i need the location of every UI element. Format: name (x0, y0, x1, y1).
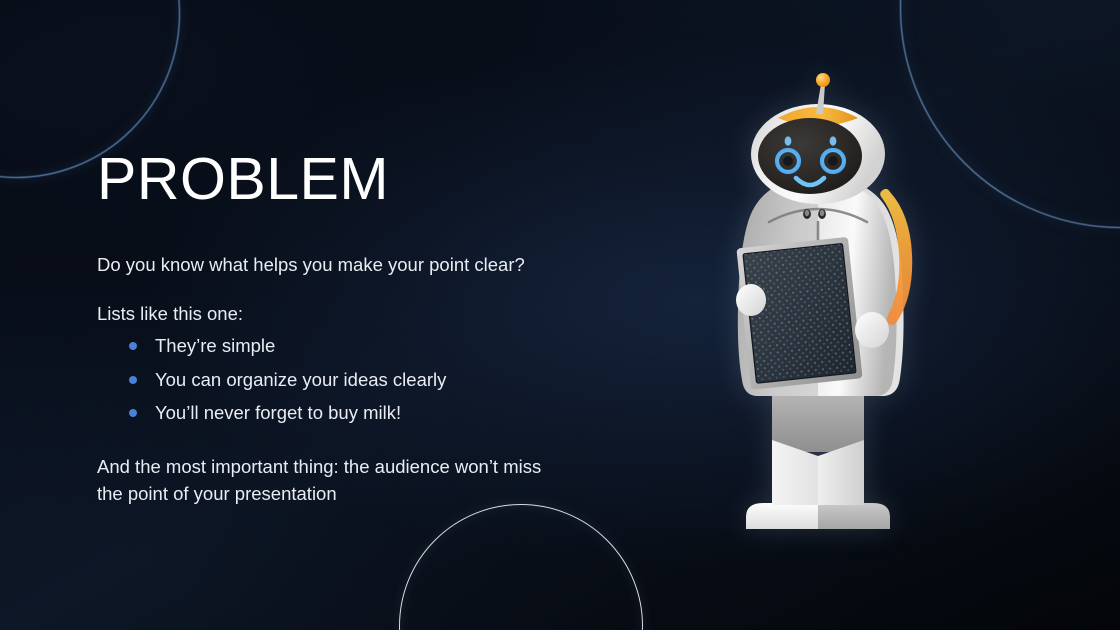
bullet-dot-icon (129, 376, 137, 384)
bullet-list: They’re simple You can organize your ide… (97, 333, 657, 427)
bullet-dot-icon (129, 409, 137, 417)
list-item: They’re simple (129, 333, 657, 360)
decorative-circle-bottom-icon (399, 504, 643, 630)
page-title: PROBLEM (97, 150, 657, 209)
list-item-label: You’ll never forget to buy milk! (155, 402, 401, 423)
presentation-slide: PROBLEM Do you know what helps you make … (0, 0, 1120, 630)
robot-illustration (722, 72, 937, 542)
list-lead-text: Lists like this one: (97, 302, 657, 326)
list-item: You can organize your ideas clearly (129, 367, 657, 394)
list-item-label: They’re simple (155, 335, 275, 356)
robot-feet (746, 503, 890, 529)
list-item: You’ll never forget to buy milk! (129, 400, 657, 427)
robot-head (751, 104, 885, 204)
robot-legs (772, 390, 864, 505)
slide-text-block: PROBLEM Do you know what helps you make … (97, 150, 657, 508)
closing-statement: And the most important thing: the audien… (97, 454, 567, 508)
intro-question: Do you know what helps you make your poi… (97, 253, 657, 277)
bullet-dot-icon (129, 342, 137, 350)
list-item-label: You can organize your ideas clearly (155, 369, 446, 390)
